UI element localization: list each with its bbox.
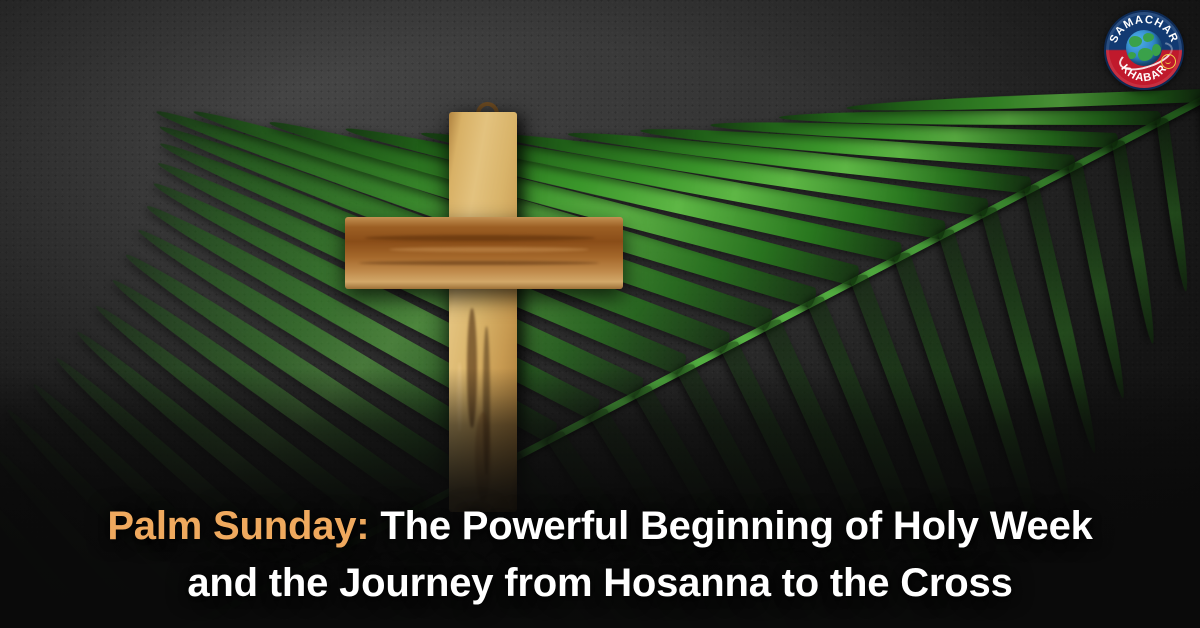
palm-sunday-banner: Palm Sunday: The Powerful Beginning of H… bbox=[0, 0, 1200, 628]
headline-line-1: Palm Sunday: The Powerful Beginning of H… bbox=[26, 498, 1174, 555]
smiley-badge-icon bbox=[1161, 54, 1176, 69]
headline-line-1-rest: The Powerful Beginning of Holy Week bbox=[369, 504, 1092, 548]
page-title: Palm Sunday: The Powerful Beginning of H… bbox=[0, 498, 1200, 612]
headline-line-2: and the Journey from Hosanna to the Cros… bbox=[26, 555, 1174, 612]
samachar-khabar-logo[interactable]: SAMACHAR KHABAR bbox=[1104, 10, 1184, 90]
headline-kicker: Palm Sunday: bbox=[107, 504, 369, 548]
